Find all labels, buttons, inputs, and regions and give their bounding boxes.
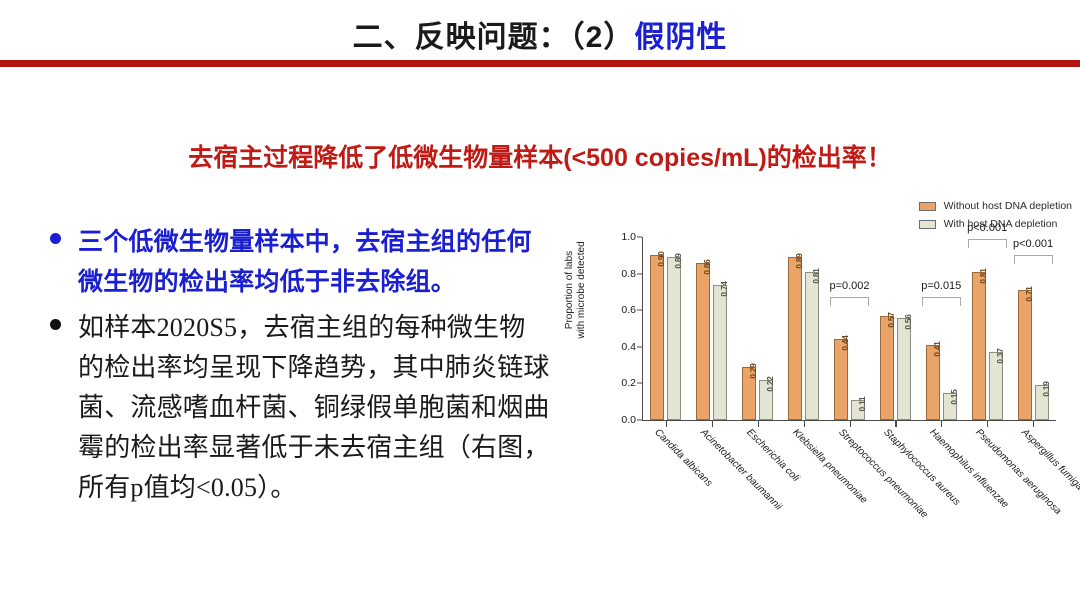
y-tick-label: 0.6 — [621, 304, 636, 316]
p-value-label: p<0.001 — [967, 222, 1007, 234]
bar: 0.57 — [880, 316, 894, 420]
p-value-bracket — [830, 297, 869, 306]
p-value-label: p=0.002 — [829, 280, 869, 292]
bar: 0.86 — [696, 263, 710, 420]
bar: 0.22 — [759, 380, 773, 420]
bar: 0.74 — [713, 285, 727, 420]
bar-value-label: 0.90 — [657, 252, 666, 267]
bar-value-label: 0.74 — [720, 281, 729, 296]
bullet-text: 如样本2020S5，去宿主组的每种微生物的检出率均呈现下降趋势，其中肺炎链球菌、… — [78, 308, 550, 508]
x-axis-labels: Candida albicansAcinetobacter baumanniiE… — [643, 427, 1056, 587]
y-tick-label: 0.0 — [621, 414, 636, 426]
p-value-annotation: p<0.001 — [1014, 238, 1053, 268]
bar-group: 0.290.22 — [742, 237, 773, 420]
bar: 0.41 — [926, 345, 940, 420]
p-value-label: p<0.001 — [1013, 238, 1053, 250]
x-tick-label: Klebsiella pneumoniae — [790, 427, 869, 506]
bullet-text: 三个低微生物量样本中，去宿主组的任何微生物的检出率均低于非去除组。 — [78, 222, 550, 302]
bullet-dot-icon — [50, 233, 61, 244]
y-tick-label: 1.0 — [621, 231, 636, 243]
bar: 0.11 — [851, 400, 865, 420]
bar: 0.89 — [667, 257, 681, 420]
page-title: 二、反映问题：（2）假阴性 — [0, 12, 1080, 56]
bar: 0.89 — [788, 257, 802, 420]
bars-container: 0.900.890.860.740.290.220.890.810.440.11… — [643, 237, 1056, 420]
headline-text: 去宿主过程降低了低微生物量样本(<500 copies/mL)的检出率！ — [0, 138, 1080, 174]
p-value-annotation: p<0.001 — [968, 222, 1007, 252]
y-tick-label: 0.8 — [621, 268, 636, 280]
legend-swatch-with — [919, 220, 936, 229]
y-axis-ticks: 0.00.20.40.60.81.0 — [608, 237, 642, 420]
bar-value-label: 0.56 — [904, 314, 913, 329]
y-axis-label-line1: Proportion of labs — [564, 210, 576, 370]
p-value-bracket — [922, 297, 961, 306]
page-title-main: 二、反映问题：（2） — [353, 21, 635, 54]
list-item: 如样本2020S5，去宿主组的每种微生物的检出率均呈现下降趋势，其中肺炎链球菌、… — [38, 308, 550, 508]
bar-value-label: 0.86 — [703, 259, 712, 274]
page-title-accent: 假阴性 — [634, 21, 727, 54]
bar: 0.81 — [805, 272, 819, 420]
bar-group: 0.440.11 — [834, 237, 865, 420]
y-axis-label: Proportion of labs with microbe detected — [564, 210, 588, 370]
bar-group: 0.410.15 — [926, 237, 957, 420]
y-tick-label: 0.2 — [621, 377, 636, 389]
bar-value-label: 0.11 — [858, 397, 867, 412]
bar-value-label: 0.41 — [933, 341, 942, 356]
p-value-annotation: p=0.015 — [922, 280, 961, 310]
y-tick-label: 0.4 — [621, 341, 636, 353]
p-value-bracket — [968, 239, 1007, 248]
bar-value-label: 0.44 — [841, 336, 850, 351]
bullet-list: 三个低微生物量样本中，去宿主组的任何微生物的检出率均低于非去除组。 如样本202… — [38, 222, 550, 514]
bar: 0.81 — [972, 272, 986, 420]
bar-value-label: 0.89 — [795, 254, 804, 269]
x-tick-label: Acinetobacter baumannii — [698, 427, 784, 513]
bar-group: 0.570.56 — [880, 237, 911, 420]
bar-value-label: 0.81 — [979, 268, 988, 283]
bar: 0.71 — [1018, 290, 1032, 420]
p-value-label: p=0.015 — [921, 280, 961, 292]
slide-root: 二、反映问题：（2）假阴性 去宿主过程降低了低微生物量样本(<500 copie… — [0, 0, 1080, 608]
list-item: 三个低微生物量样本中，去宿主组的任何微生物的检出率均低于非去除组。 — [38, 222, 550, 302]
legend-label: Without host DNA depletion — [944, 200, 1072, 212]
bar: 0.56 — [897, 318, 911, 420]
plot-area: 0.00.20.40.60.81.0 0.900.890.860.740.290… — [608, 237, 1056, 420]
bar-group: 0.900.89 — [650, 237, 681, 420]
bar-value-label: 0.22 — [766, 376, 775, 391]
bar: 0.29 — [742, 367, 756, 420]
x-tick-label: Haemophilus influenzae — [927, 427, 1010, 510]
x-tick-label: Staphylococcus aureus — [882, 427, 963, 508]
bar: 0.44 — [834, 339, 848, 420]
bar-value-label: 0.57 — [887, 312, 896, 327]
bar-value-label: 0.71 — [1025, 287, 1034, 302]
y-axis-label-line2: with microbe detected — [576, 210, 588, 370]
bar: 0.15 — [943, 393, 957, 420]
p-value-bracket — [1014, 255, 1053, 264]
bar-value-label: 0.89 — [674, 254, 683, 269]
title-divider — [0, 60, 1080, 67]
bar-value-label: 0.81 — [812, 268, 821, 283]
bar-value-label: 0.29 — [749, 363, 758, 378]
chart-figure: Without host DNA depletion With host DNA… — [556, 192, 1076, 604]
bar: 0.19 — [1035, 385, 1049, 420]
bar-value-label: 0.37 — [996, 349, 1005, 364]
x-tick-label: Pseudomonas aeruginosa — [973, 427, 1063, 517]
bar-value-label: 0.19 — [1042, 382, 1051, 397]
bar-value-label: 0.15 — [950, 389, 959, 404]
bar: 0.90 — [650, 255, 664, 420]
x-tick-label: Streptococcus pneumoniae — [836, 427, 929, 520]
legend-swatch-without — [919, 202, 936, 211]
bar-group: 0.810.37 — [972, 237, 1003, 420]
bar-group: 0.860.74 — [696, 237, 727, 420]
bar-group: 0.890.81 — [788, 237, 819, 420]
legend-item: Without host DNA depletion — [919, 200, 1072, 212]
bar: 0.37 — [989, 352, 1003, 420]
bullet-dot-icon — [50, 319, 61, 330]
p-value-annotation: p=0.002 — [830, 280, 869, 310]
